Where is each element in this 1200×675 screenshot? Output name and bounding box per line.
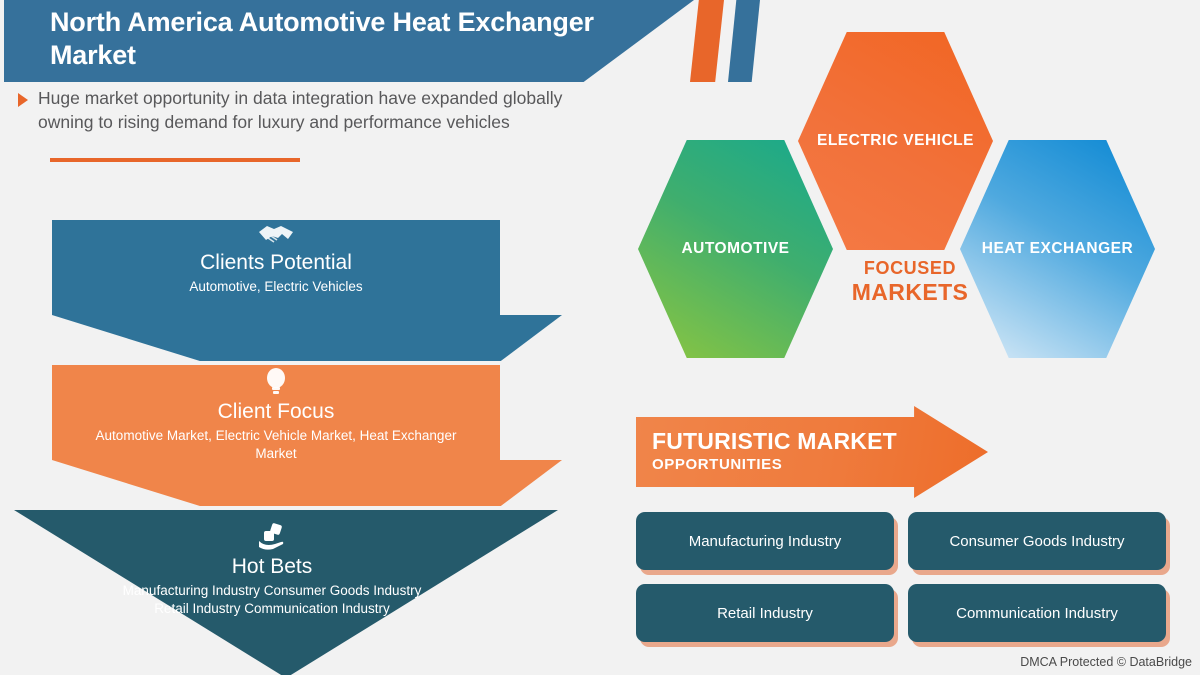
subtitle-row: Huge market opportunity in data integrat… [18,86,578,134]
hexagon-label-electric-vehicle: ELECTRIC VEHICLE [817,130,974,152]
hexagon-label-automotive: AUTOMOTIVE [681,238,789,260]
subtitle-text: Huge market opportunity in data integrat… [38,86,578,134]
futuristic-market-arrow: FUTURISTIC MARKET OPPORTUNITIES [636,406,988,498]
footer-copyright: DMCA Protected © DataBridge [1020,655,1192,669]
triangle-right-icon [18,93,28,107]
industry-label-0: Manufacturing Industry [689,533,842,550]
focused-markets-caption-top: FOCUSED [835,258,985,279]
funnel-subtitle-1: Automotive, Electric Vehicles [52,276,500,296]
funnel-title-1: Clients Potential [52,250,500,276]
handshake-icon [256,220,296,248]
focused-markets-caption: FOCUSED MARKETS [835,258,985,305]
focused-markets-caption-bottom: MARKETS [835,279,985,305]
industry-label-1: Consumer Goods Industry [949,533,1124,550]
funnel-title-3: Hot Bets [0,554,544,580]
funnel-diagram: Clients Potential Automotive, Electric V… [0,220,570,640]
hand-dice-icon [255,522,289,552]
subtitle-underline [50,158,300,162]
funnel-chevron-2 [52,460,562,506]
futuristic-market-subtitle: OPPORTUNITIES [652,455,988,475]
industry-box-consumer-goods[interactable]: Consumer Goods Industry [908,512,1166,570]
funnel-chevron-1 [52,315,562,361]
funnel-segment-body-1: Clients Potential Automotive, Electric V… [52,220,500,315]
funnel-segment-body-3: Hot Bets Manufacturing Industry Consumer… [0,522,544,618]
funnel-segment-body-2: Client Focus Automotive Market, Electric… [52,365,500,460]
funnel-title-2: Client Focus [52,399,500,425]
funnel-subtitle-3: Manufacturing Industry Consumer Goods In… [0,580,544,618]
industry-label-2: Retail Industry [717,605,813,622]
industry-box-communication[interactable]: Communication Industry [908,584,1166,642]
industry-box-retail[interactable]: Retail Industry [636,584,894,642]
lightbulb-icon [263,365,289,397]
industry-label-3: Communication Industry [956,605,1118,622]
hexagon-automotive: AUTOMOTIVE [638,140,833,358]
futuristic-market-title: FUTURISTIC MARKET [652,428,988,455]
infographic-canvas: North America Automotive Heat Exchanger … [0,0,1200,675]
page-title: North America Automotive Heat Exchanger … [50,6,680,72]
hexagon-label-heat-exchanger: HEAT EXCHANGER [982,238,1133,260]
industry-box-manufacturing[interactable]: Manufacturing Industry [636,512,894,570]
hexagon-heat-exchanger: HEAT EXCHANGER [960,140,1155,358]
focused-markets-hexagons: AUTOMOTIVE ELECTRIC VEHICLE HEAT EXCHANG… [620,10,1200,340]
hexagon-electric-vehicle: ELECTRIC VEHICLE [798,32,993,250]
industry-box-grid: Manufacturing Industry Consumer Goods In… [636,512,1176,652]
funnel-subtitle-2: Automotive Market, Electric Vehicle Mark… [52,425,500,463]
